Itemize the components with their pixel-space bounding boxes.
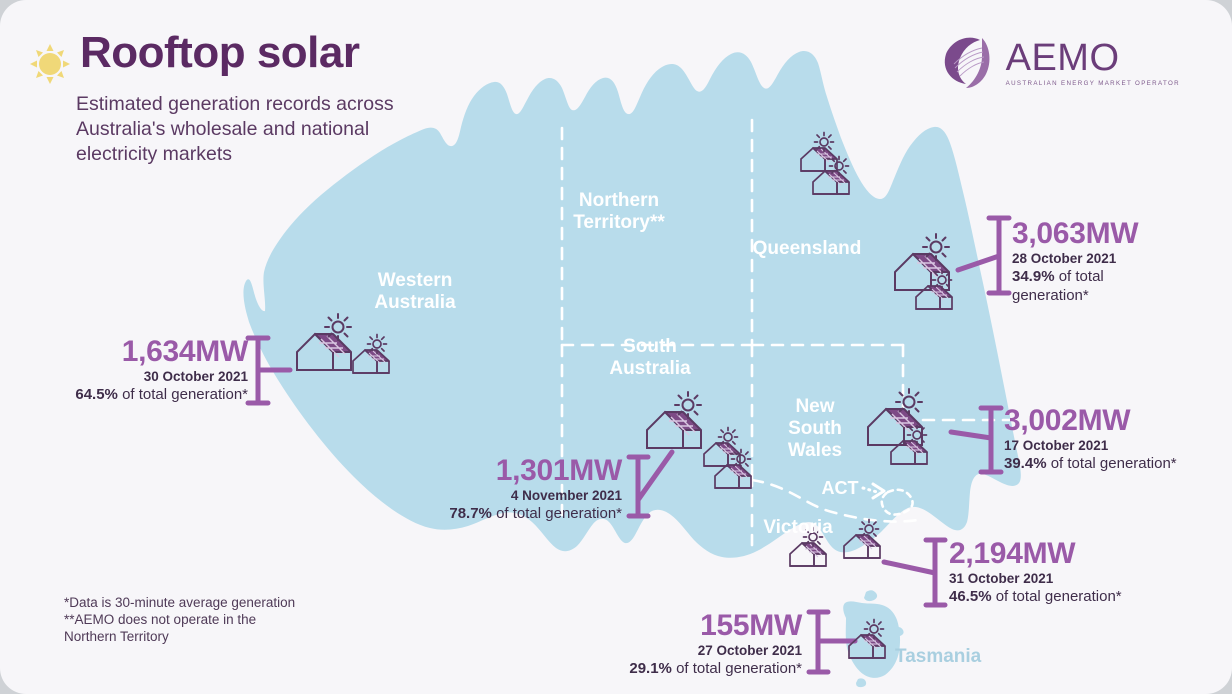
callout-percent: 46.5% of total generation* <box>949 587 1174 606</box>
callout-date: 17 October 2021 <box>1004 437 1229 454</box>
callout-percent: 78.7% of total generation* <box>400 504 622 523</box>
callout-percent: 39.4% of total generation* <box>1004 454 1229 473</box>
callout-percent-value: 78.7% <box>449 505 492 522</box>
sun-icon <box>28 42 72 86</box>
callout-tasmania: 155MW 27 October 2021 29.1% of total gen… <box>580 610 802 678</box>
callout-percent-rest: of total generation* <box>672 660 802 677</box>
callout-percent-value: 39.4% <box>1004 455 1047 472</box>
callout-date: 27 October 2021 <box>580 642 802 659</box>
callout-new-south-wales: 3,002MW 17 October 2021 39.4% of total g… <box>1004 405 1229 473</box>
map-label-act: ACT <box>805 477 875 499</box>
callout-percent-rest: of total generation* <box>1047 455 1177 472</box>
infographic-root: Rooftop solar Estimated generation recor… <box>0 0 1232 694</box>
callout-victoria: 2,194MW 31 October 2021 46.5% of total g… <box>949 538 1174 606</box>
callout-mw: 3,002MW <box>1004 405 1229 437</box>
callout-percent: 34.9% of total generation* <box>1012 267 1222 305</box>
callout-percent-rest: of total generation* <box>992 588 1122 605</box>
callout-percent: 64.5% of total generation* <box>20 385 248 404</box>
aemo-swoosh-icon <box>938 34 1000 92</box>
callout-date: 30 October 2021 <box>20 368 248 385</box>
callout-mw: 155MW <box>580 610 802 642</box>
callout-western-australia: 1,634MW 30 October 2021 64.5% of total g… <box>20 336 248 404</box>
map-label-new-south-wales: New South Wales <box>760 396 870 462</box>
logo-tagline: AUSTRALIAN ENERGY MARKET OPERATOR <box>1006 80 1180 87</box>
callout-date: 28 October 2021 <box>1012 250 1222 267</box>
callout-percent-value: 29.1% <box>629 660 672 677</box>
logo-wordmark: AEMO <box>1006 39 1180 77</box>
map-label-south-australia: South Australia <box>580 336 720 380</box>
callout-mw: 1,301MW <box>400 455 622 487</box>
map-label-victoria: Victoria <box>743 517 853 539</box>
callout-percent-rest: of total generation* <box>118 386 248 403</box>
map-label-northern-territory: Northern Territory** <box>549 190 689 234</box>
callout-percent: 29.1% of total generation* <box>580 659 802 678</box>
callout-south-australia: 1,301MW 4 November 2021 78.7% of total g… <box>400 455 622 523</box>
page-title: Rooftop solar <box>80 28 359 78</box>
map-label-tasmania: Tasmania <box>895 646 1015 668</box>
footnotes: *Data is 30-minute average generation **… <box>64 594 295 645</box>
callout-queensland: 3,063MW 28 October 2021 34.9% of total g… <box>1012 218 1222 305</box>
callout-mw: 2,194MW <box>949 538 1174 570</box>
callout-percent-value: 46.5% <box>949 588 992 605</box>
callout-percent-value: 64.5% <box>75 386 118 403</box>
aemo-logo: AEMO AUSTRALIAN ENERGY MARKET OPERATOR <box>938 34 1180 92</box>
header: Rooftop solar Estimated generation recor… <box>28 28 458 167</box>
callout-date: 31 October 2021 <box>949 570 1174 587</box>
callout-mw: 3,063MW <box>1012 218 1222 250</box>
callout-percent-value: 34.9% <box>1012 268 1055 285</box>
callout-date: 4 November 2021 <box>400 487 622 504</box>
map-label-queensland: Queensland <box>737 238 877 260</box>
connector-victoria <box>884 540 945 605</box>
map-label-western-australia: Western Australia <box>345 270 485 314</box>
callout-percent-rest: of total generation* <box>492 505 622 522</box>
page-subtitle: Estimated generation records across Aust… <box>76 92 416 167</box>
callout-mw: 1,634MW <box>20 336 248 368</box>
